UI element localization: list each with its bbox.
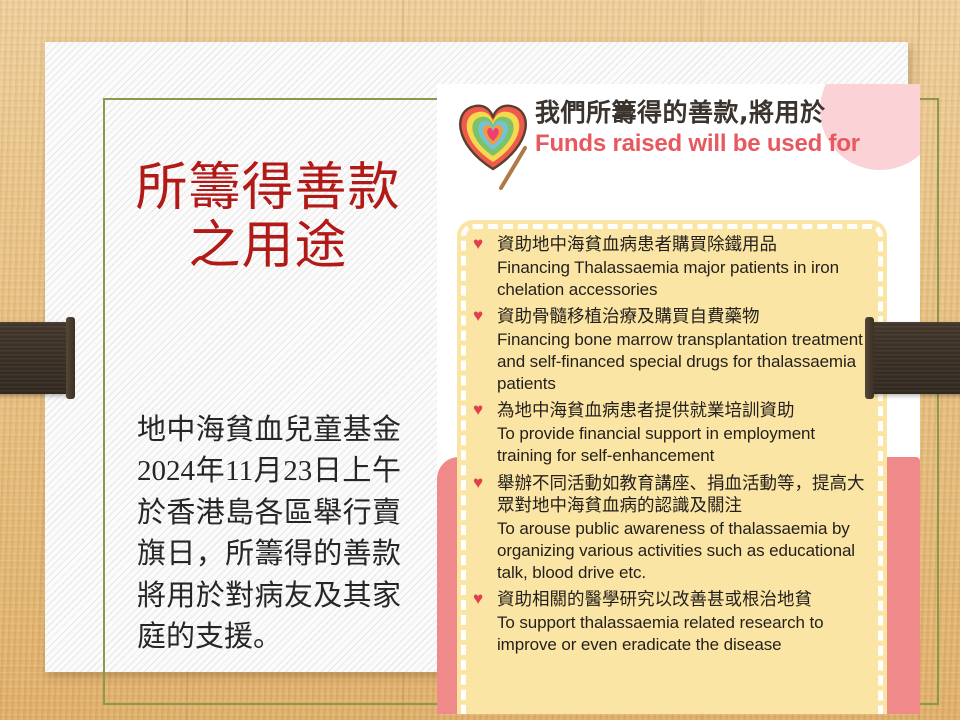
list-item-en: To provide financial support in employme… — [497, 423, 871, 467]
list-item-en: To arouse public awareness of thalassaem… — [497, 518, 871, 583]
list-item-cn: 資助相關的醫學研究以改善甚或根治地貧 — [497, 589, 871, 612]
rainbow-heart-lollipop-icon — [445, 92, 541, 192]
list-item: ♥ 資助相關的醫學研究以改善甚或根治地貧 To support thalassa… — [471, 589, 871, 655]
clip-cap — [66, 317, 75, 399]
page-title: 所籌得善款 之用途 — [103, 160, 433, 276]
list-item-en: Financing bone marrow transplantation tr… — [497, 329, 871, 394]
presentation-slide: 所籌得善款 之用途 地中海貧血兒童基金2024年11月23日上午於香港島各區舉行… — [45, 42, 908, 672]
funds-usage-list: ♥ 資助地中海貧血病患者購買除鐵用品 Financing Thalassaemi… — [471, 234, 871, 656]
list-item-cn: 舉辦不同活動如教育講座、捐血活動等，提高大眾對地中海貧血病的認識及關注 — [497, 473, 871, 519]
heart-bullet-icon: ♥ — [473, 401, 483, 418]
flyer-heading-text: 我們所籌得的善款,將用於 Funds raised will be used f… — [535, 98, 915, 158]
list-item-cn: 為地中海貧血病患者提供就業培訓資助 — [497, 400, 871, 423]
flyer-image: 我們所籌得的善款,將用於 Funds raised will be used f… — [437, 84, 920, 714]
list-item-cn: 資助地中海貧血病患者購買除鐵用品 — [497, 234, 871, 257]
list-item: ♥ 為地中海貧血病患者提供就業培訓資助 To provide financial… — [471, 400, 871, 466]
right-clip-bar — [868, 322, 960, 394]
slide-canvas: 所籌得善款 之用途 地中海貧血兒童基金2024年11月23日上午於香港島各區舉行… — [0, 0, 960, 720]
heart-bullet-icon: ♥ — [473, 307, 483, 324]
left-clip-bar — [0, 322, 72, 394]
heart-bullet-icon: ♥ — [473, 474, 483, 491]
flyer-heading-en: Funds raised will be used for — [535, 130, 915, 158]
heart-bullet-icon: ♥ — [473, 590, 483, 607]
flyer-heading-row: 我們所籌得的善款,將用於 Funds raised will be used f… — [437, 84, 920, 196]
left-text-column: 所籌得善款 之用途 地中海貧血兒童基金2024年11月23日上午於香港島各區舉行… — [103, 98, 433, 705]
list-item-en: Financing Thalassaemia major patients in… — [497, 257, 871, 301]
body-paragraph: 地中海貧血兒童基金2024年11月23日上午於香港島各區舉行賣旗日，所籌得的善款… — [137, 410, 401, 659]
list-item: ♥ 資助骨髓移植治療及購買自費藥物 Financing bone marrow … — [471, 306, 871, 394]
flyer-heading-cn: 我們所籌得的善款,將用於 — [535, 98, 915, 128]
list-item: ♥ 舉辦不同活動如教育講座、捐血活動等，提高大眾對地中海貧血病的認識及關注 To… — [471, 473, 871, 584]
yellow-content-card: ♥ 資助地中海貧血病患者購買除鐵用品 Financing Thalassaemi… — [457, 220, 887, 714]
list-item: ♥ 資助地中海貧血病患者購買除鐵用品 Financing Thalassaemi… — [471, 234, 871, 300]
list-item-en: To support thalassaemia related research… — [497, 612, 871, 656]
heart-bullet-icon: ♥ — [473, 235, 483, 252]
clip-cap — [865, 317, 874, 399]
list-item-cn: 資助骨髓移植治療及購買自費藥物 — [497, 306, 871, 329]
